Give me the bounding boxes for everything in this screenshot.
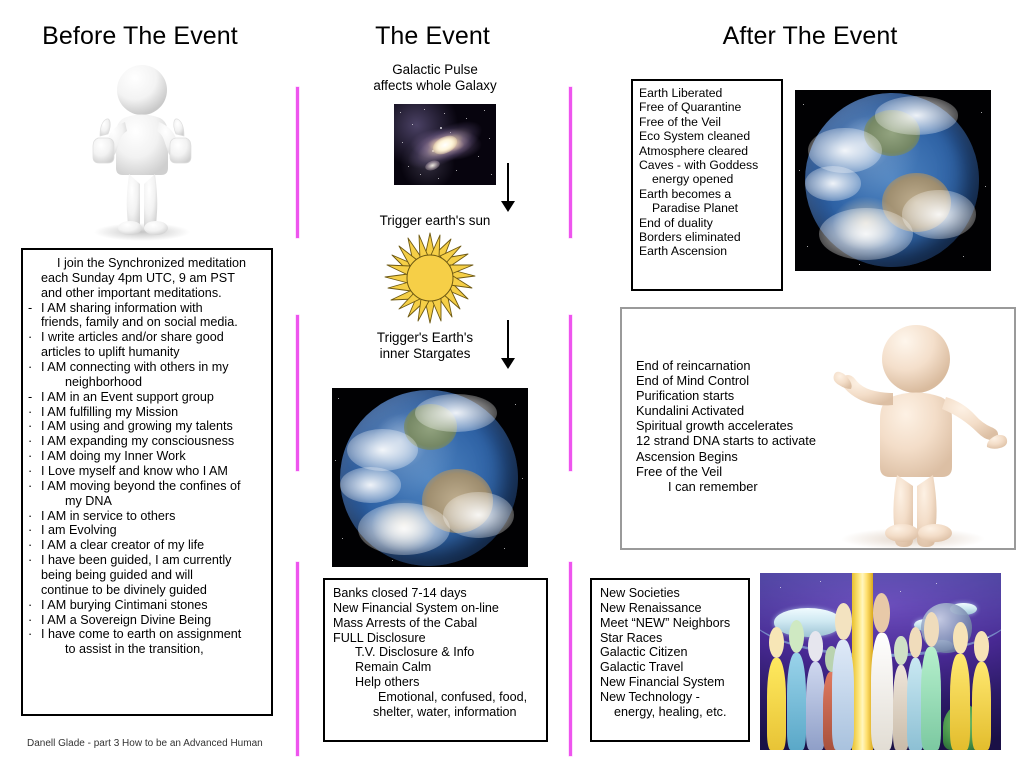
list-item: Spiritual growth accelerates [636,418,816,433]
list-item: Star Races [600,631,740,646]
arrow-shaft [507,320,509,360]
list-item: I can remember [636,479,816,494]
arrow-down-icon [496,163,520,213]
list-item-continuation: my DNA [27,494,267,509]
footer-credit: Danell Glade - part 3 How to be an Advan… [27,738,263,749]
divider-right-segment-3 [569,562,572,756]
divider-right-segment-1 [569,87,572,238]
list-item: · I AM in service to others [27,509,267,524]
caption-galactic-pulse: Galactic Pulse affects whole Galaxy [330,62,540,94]
being-head [789,620,804,653]
arrow-head [501,358,515,369]
list-item-continuation: articles to uplift humanity [27,345,267,360]
list-item: Eco System cleaned [639,129,775,143]
divider-left-segment-3 [296,562,299,756]
new-societies-box: New Societies New Renaissance Meet “NEW”… [590,578,750,742]
affirmations-intro-line: each Sunday 4pm UTC, 9 am PST [41,271,267,286]
list-item-label: I AM moving beyond the confines of [41,479,267,494]
ascension-effects-box: End of reincarnation End of Mind Control… [620,307,1016,550]
bullet-mark: · [27,523,41,537]
caption-trigger-earths-sun: Trigger earth's sun [330,213,540,229]
divider-left-segment-1 [296,87,299,238]
list-item: · I have been guided, I am currently [27,553,267,568]
list-item: shelter, water, information [333,705,538,720]
being-head [909,627,922,658]
list-item: - I AM sharing information with [27,301,267,316]
list-item: · I am Evolving [27,523,267,538]
cloud [819,208,913,260]
slide-canvas: Before The Event The Event After The Eve… [0,0,1024,768]
list-item-label: I AM a clear creator of my life [41,538,267,553]
arrow-down-icon [496,320,520,370]
being-figure [871,633,893,750]
affirmations-intro-line: I join the Synchronized meditation [41,256,267,271]
list-item: · I AM fulfilling my Mission [27,405,267,420]
list-item: Galactic Travel [600,660,740,675]
earth-liberated-box: Earth Liberated Free of Quarantine Free … [631,79,783,291]
being-head [808,631,823,661]
list-item: 12 strand DNA starts to activate [636,433,816,448]
list-item: Free of the Veil [639,115,775,129]
list-item: · I write articles and/or share good [27,330,267,345]
list-item-label: I AM a Sovereign Divine Being [41,613,267,628]
list-item: · I have come to earth on assignment [27,627,267,642]
sun-image [382,230,478,326]
list-item-label: I am Evolving [41,523,267,538]
list-item: Paradise Planet [639,201,775,215]
list-item: FULL Disclosure [333,631,538,646]
being-head [924,612,939,647]
list-item: energy opened [639,172,775,186]
list-item-label: I Love myself and know who I AM [41,464,267,479]
being-figure [921,647,940,750]
being-figure [950,654,969,750]
list-item: Galactic Citizen [600,645,740,660]
list-item-label: I AM expanding my consciousness [41,434,267,449]
bullet-mark: · [27,434,41,448]
list-item: End of Mind Control [636,373,816,388]
arrow-head [501,201,515,212]
list-item: T.V. Disclosure & Info [333,645,538,660]
being-figure [787,653,806,750]
list-item-continuation: to assist in the transition, [27,642,267,657]
divider-left-segment-2 [296,315,299,471]
list-item-continuation: continue to be divinely guided [27,583,267,598]
list-item-label: I have come to earth on assignment [41,627,267,642]
being-figure [972,662,991,751]
list-item: · I AM a clear creator of my life [27,538,267,553]
being-head [953,622,968,654]
list-item: · I AM expanding my consciousness [27,434,267,449]
list-item: Earth Liberated [639,86,775,100]
list-item: · I AM doing my Inner Work [27,449,267,464]
galaxy-image [394,104,496,185]
being-figure [832,640,854,750]
list-item-continuation: neighborhood [27,375,267,390]
page-title-the-event: The Event [300,22,565,51]
bullet-mark: · [27,479,41,493]
list-item-label: I AM connecting with others in my [41,360,267,375]
list-item: Meet “NEW” Neighbors [600,616,740,631]
list-item: Banks closed 7-14 days [333,586,538,601]
white-3d-figure-thumbs-up-icon [78,62,206,242]
list-item: - I AM in an Event support group [27,390,267,405]
being-head [974,631,989,661]
cloud [443,492,514,538]
earth-globe [805,93,979,267]
affirmations-intro: I join the Synchronized meditation each … [27,256,267,301]
list-item: End of reincarnation [636,358,816,373]
arrow-shaft [507,163,509,203]
list-item-label: I write articles and/or share good [41,330,267,345]
earth-image [332,388,528,567]
list-item: · I AM burying Cintimani stones [27,598,267,613]
beige-3d-figure-arms-open-icon [813,317,1008,549]
cloud [340,467,401,502]
list-item: Help others [333,675,538,690]
bullet-mark: · [27,553,41,567]
earth-image [795,90,991,271]
cloud [875,96,959,134]
list-item: New Financial System on-line [333,601,538,616]
list-item: Purification starts [636,388,816,403]
bullet-mark: · [27,449,41,463]
bullet-mark: · [27,360,41,374]
list-item-continuation: being being guided and will [27,568,267,583]
page-title-before-the-event: Before The Event [0,22,280,51]
being-head [835,603,852,640]
list-item-label: I AM in service to others [41,509,267,524]
list-item: Borders eliminated [639,230,775,244]
event-effects-box: Banks closed 7-14 days New Financial Sys… [323,578,548,742]
bullet-mark: · [27,509,41,523]
bullet-mark: · [27,464,41,478]
list-item: End of duality [639,216,775,230]
bullet-mark: - [27,390,41,404]
list-item: Earth becomes a [639,187,775,201]
list-item: · I Love myself and know who I AM [27,464,267,479]
list-item: Remain Calm [333,660,538,675]
list-item: New Renaissance [600,601,740,616]
list-item: Caves - with Goddess [639,158,775,172]
galactic-family-artwork [760,573,1001,750]
list-item: · I AM moving beyond the confines of [27,479,267,494]
cloud [808,128,881,173]
list-item: energy, healing, etc. [600,705,740,720]
list-item-continuation: friends, family and on social media. [27,315,267,330]
cloud [358,503,451,556]
list-item: New Financial System [600,675,740,690]
list-item-label: I have been guided, I am currently [41,553,267,568]
list-item: Free of the Veil [636,464,816,479]
cloud [347,429,418,471]
list-item: Emotional, confused, food, [333,690,538,705]
bullet-mark: · [27,538,41,552]
list-item: Mass Arrests of the Cabal [333,616,538,631]
bullet-mark: - [27,301,41,315]
list-item: Atmosphere cleared [639,144,775,158]
being-figure [767,658,786,750]
affirmations-list-box: I join the Synchronized meditation each … [21,248,273,716]
list-item-label: I AM burying Cintimani stones [41,598,267,613]
cloud [415,394,497,433]
bullet-mark: · [27,598,41,612]
bullet-mark: · [27,419,41,433]
bullet-mark: · [27,405,41,419]
ascension-list: End of reincarnation End of Mind Control… [636,358,816,494]
list-item: New Societies [600,586,740,601]
affirmations-intro-line: and other important meditations. [41,286,267,301]
divider-right-segment-2 [569,315,572,471]
page-title-after-the-event: After The Event [600,22,1020,51]
list-item: Free of Quarantine [639,100,775,114]
list-item-label: I AM sharing information with [41,301,267,316]
list-item: · I AM connecting with others in my [27,360,267,375]
list-item: Ascension Begins [636,449,816,464]
cloud [902,190,975,239]
list-item-label: I AM fulfilling my Mission [41,405,267,420]
list-item: · I AM using and growing my talents [27,419,267,434]
bullet-mark: · [27,613,41,627]
bullet-mark: · [27,330,41,344]
list-item-label: I AM doing my Inner Work [41,449,267,464]
list-item-label: I AM using and growing my talents [41,419,267,434]
ufo-icon [774,608,841,636]
list-item: New Technology - [600,690,740,705]
cloud [805,166,861,201]
list-item-label: I AM in an Event support group [41,390,267,405]
earth-globe [340,390,518,566]
bullet-mark: · [27,627,41,641]
list-item: Earth Ascension [639,244,775,258]
list-item: Kundalini Activated [636,403,816,418]
caption-trigger-earth-inner-stargates: Trigger's Earth's inner Stargates [330,330,520,362]
being-head [894,636,907,665]
list-item: · I AM a Sovereign Divine Being [27,613,267,628]
